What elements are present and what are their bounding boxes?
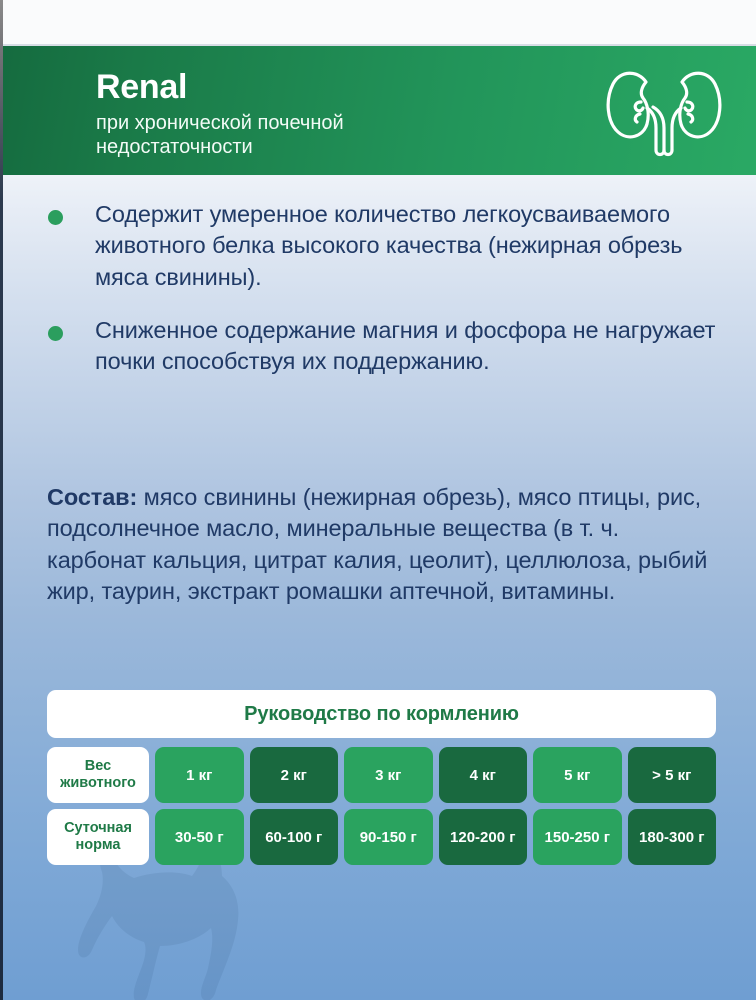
benefit-text: Сниженное содержание магния и фосфора не…: [95, 315, 722, 378]
table-cell: 3 кг: [344, 747, 433, 803]
feeding-guide-table: Вес животного 1 кг 2 кг 3 кг 4 кг 5 кг >…: [47, 747, 716, 865]
table-cell: 5 кг: [533, 747, 622, 803]
composition-text: мясо свинины (нежирная обрезь), мясо пти…: [47, 484, 707, 604]
composition-label: Состав:: [47, 484, 137, 510]
table-cell: 150-250 г: [533, 809, 622, 865]
table-cell: > 5 кг: [628, 747, 717, 803]
feeding-guide-title: Руководство по кормлению: [47, 690, 716, 738]
table-row: Суточная норма 30-50 г 60-100 г 90-150 г…: [47, 809, 716, 865]
table-cell: 90-150 г: [344, 809, 433, 865]
header-text-block: Renal при хронической почечной недостато…: [96, 70, 496, 160]
row-header-weight: Вес животного: [47, 747, 149, 803]
bullet-dot-icon: [48, 210, 63, 225]
left-edge-strip: [0, 0, 3, 1000]
table-cell: 120-200 г: [439, 809, 528, 865]
list-item: Сниженное содержание магния и фосфора не…: [0, 315, 756, 378]
table-cell: 1 кг: [155, 747, 244, 803]
top-gutter: [0, 0, 756, 46]
product-header-banner: Renal при хронической почечной недостато…: [0, 46, 756, 175]
row-header-daily-norm: Суточная норма: [47, 809, 149, 865]
table-row: Вес животного 1 кг 2 кг 3 кг 4 кг 5 кг >…: [47, 747, 716, 803]
kidneys-icon: [600, 58, 728, 162]
table-cell: 4 кг: [439, 747, 528, 803]
table-cell: 60-100 г: [250, 809, 339, 865]
feeding-guide: Руководство по кормлению Вес животного 1…: [47, 690, 716, 871]
table-cell: 2 кг: [250, 747, 339, 803]
table-cell: 30-50 г: [155, 809, 244, 865]
composition-paragraph: Состав: мясо свинины (нежирная обрезь), …: [47, 482, 723, 607]
page-title: Renal: [96, 70, 496, 104]
product-info-card: Renal при хронической почечной недостато…: [0, 0, 756, 1000]
benefits-list: Содержит умеренное количество легкоусваи…: [0, 199, 756, 399]
page-subtitle: при хронической почечной недостаточности: [96, 111, 496, 160]
bullet-dot-icon: [48, 326, 63, 341]
body-content-area: Содержит умеренное количество легкоусваи…: [0, 175, 756, 1000]
table-cell: 180-300 г: [628, 809, 717, 865]
benefit-text: Содержит умеренное количество легкоусваи…: [95, 199, 722, 293]
list-item: Содержит умеренное количество легкоусваи…: [0, 199, 756, 293]
